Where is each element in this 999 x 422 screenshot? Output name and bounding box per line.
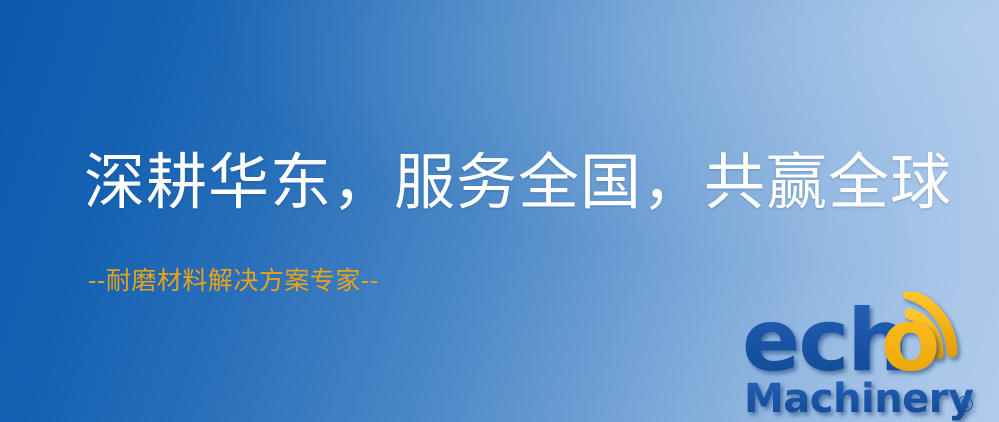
registered-trademark-icon: ®: [954, 393, 976, 418]
page-title: 深耕华东，服务全国，共赢全球: [84, 152, 952, 213]
banner-subtitle: --耐磨材料解决方案专家--: [88, 268, 379, 293]
company-logo[interactable]: ech o Machinery ®: [742, 292, 999, 422]
logo-tagline: Machinery ®: [744, 376, 976, 422]
promo-banner: 深耕华东，服务全国，共赢全球 --耐磨材料解决方案专家--: [0, 0, 999, 422]
svg-text:Machinery: Machinery: [744, 376, 974, 422]
